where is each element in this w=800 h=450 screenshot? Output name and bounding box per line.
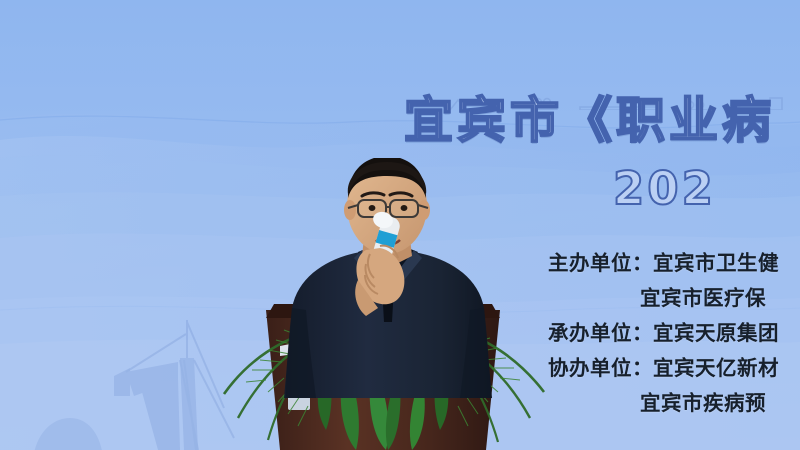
credit-label: 承办单位： (548, 321, 653, 345)
banner-year: 202 (613, 166, 716, 211)
speaker-person (262, 158, 512, 398)
banner-credits-block: 主办单位：宜宾市卫生健 宜宾市医疗保 承办单位：宜宾天原集团 协办单位：宜宾天亿… (548, 246, 800, 421)
credit-value: 宜宾天亿新材 (653, 356, 779, 380)
dome-silhouette-icon (18, 412, 108, 450)
credit-value: 宜宾天原集团 (653, 321, 779, 345)
credit-row: 协办单位：宜宾天亿新材 (548, 351, 800, 386)
credit-row: 宜宾市疾病预 (548, 386, 800, 421)
credit-value: 宜宾市卫生健 (653, 251, 779, 275)
credit-row: 承办单位：宜宾天原集团 (548, 316, 800, 351)
credit-label: 主办单位： (548, 251, 653, 275)
credit-value: 宜宾市疾病预 (640, 391, 766, 415)
credit-label: 协办单位： (548, 356, 653, 380)
credit-value: 宜宾市医疗保 (640, 286, 766, 310)
banner-title: 宜宾市《职业病 (404, 96, 775, 145)
screenshot-root: 宜宾市《职业病 202 主办单位：宜宾市卫生健 宜宾市医疗保 承办单位：宜宾天原… (0, 0, 800, 450)
credit-row: 宜宾市医疗保 (548, 281, 800, 316)
credit-row: 主办单位：宜宾市卫生健 (548, 246, 800, 281)
